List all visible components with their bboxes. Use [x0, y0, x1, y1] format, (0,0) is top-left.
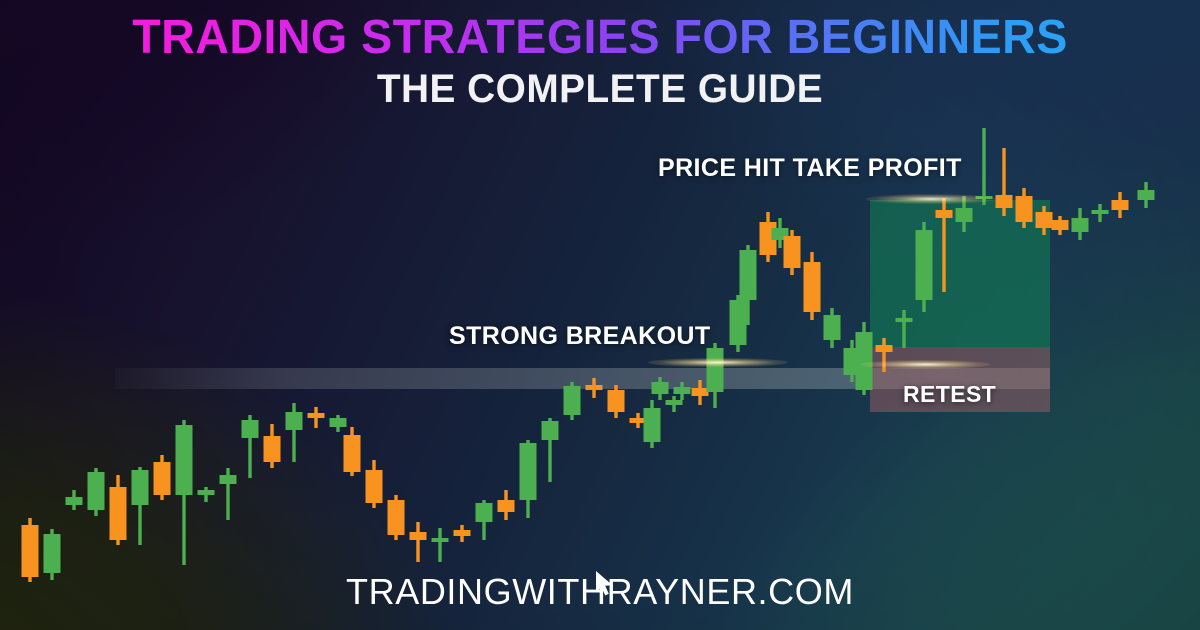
- candle-body: [740, 250, 757, 300]
- candle-body: [344, 435, 361, 472]
- candle-body: [542, 421, 559, 440]
- candle-body: [66, 497, 83, 505]
- candle-body: [608, 390, 625, 412]
- candle-body: [1092, 210, 1109, 214]
- candle-body: [432, 538, 449, 542]
- candle-body: [674, 387, 691, 394]
- candle-wick: [416, 522, 419, 562]
- candle-body: [286, 412, 303, 430]
- poster-root: Trading Strategies for Beginners The Com…: [0, 0, 1200, 630]
- candle-body: [996, 195, 1013, 208]
- candle-body: [824, 315, 841, 340]
- candle-body: [784, 236, 801, 268]
- candle-body: [388, 500, 405, 535]
- candle-body: [1112, 200, 1129, 210]
- page-title: Trading Strategies for Beginners: [18, 14, 1182, 63]
- candle-body: [220, 475, 237, 484]
- candle-body: [896, 318, 913, 322]
- candle-body: [476, 503, 493, 522]
- candle-wick: [982, 128, 985, 205]
- candle-body: [44, 534, 61, 573]
- candle-wick: [292, 403, 295, 462]
- candle-body: [520, 443, 537, 500]
- candle-body: [1036, 212, 1053, 228]
- candle-body: [498, 500, 515, 512]
- candle-body: [110, 487, 127, 540]
- candle-body: [366, 470, 383, 503]
- candle-body: [330, 418, 347, 427]
- candle-body: [176, 425, 193, 495]
- candle-wick: [902, 310, 905, 348]
- candle-body: [856, 332, 873, 390]
- candle-body: [644, 408, 661, 442]
- annotation-take-profit: PRICE HIT TAKE PROFIT: [658, 154, 962, 183]
- candle-wick: [438, 528, 441, 562]
- candle-body: [88, 472, 105, 510]
- candle-body: [1072, 218, 1089, 232]
- candle-body: [454, 530, 471, 536]
- annotation-breakout: STRONG BREAKOUT: [449, 322, 711, 351]
- candle-body: [976, 196, 993, 199]
- candle-body: [586, 385, 603, 390]
- candle-body: [410, 532, 427, 540]
- candle-body: [730, 300, 747, 345]
- footer-website-url: TRADINGWITHRAYNER.COM: [0, 571, 1200, 613]
- candle-body: [956, 208, 973, 222]
- candle-body: [1016, 196, 1033, 222]
- candle-body: [1052, 220, 1069, 230]
- candle-body: [242, 420, 259, 438]
- candle-body: [564, 386, 581, 415]
- candle-body: [264, 436, 281, 462]
- headline-block: Trading Strategies for Beginners The Com…: [0, 14, 1200, 111]
- candle-wick: [882, 338, 885, 372]
- page-subtitle: The Complete Guide: [18, 67, 1182, 111]
- candle-body: [154, 462, 171, 495]
- candle-body: [308, 413, 325, 418]
- candle-body: [692, 388, 709, 396]
- annotation-retest: RETEST: [903, 381, 996, 408]
- candle-body: [876, 345, 893, 352]
- candle-body: [22, 525, 39, 577]
- candle-body: [916, 230, 933, 300]
- candle-body: [132, 470, 149, 505]
- candle-body: [198, 490, 215, 495]
- candle-body: [707, 348, 724, 392]
- candle-body: [666, 400, 683, 405]
- candle-body: [936, 210, 953, 218]
- candle-body: [1138, 190, 1155, 200]
- candle-body: [652, 382, 669, 394]
- candle-body: [804, 262, 821, 312]
